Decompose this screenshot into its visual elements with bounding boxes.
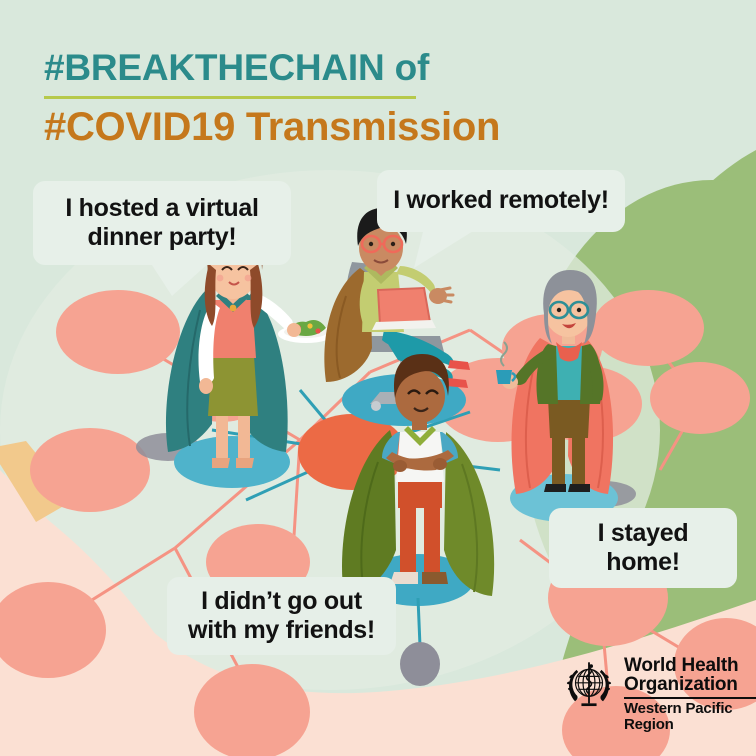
who-logo: World Health Organization Western Pacifi… bbox=[562, 656, 756, 732]
bubble-remote-line1: I worked remotely! bbox=[393, 186, 609, 216]
bubble-dinner-line2: dinner party! bbox=[65, 223, 258, 253]
speech-bubble-remote: I worked remotely! bbox=[377, 170, 625, 232]
bubble-stayed-line2: home! bbox=[598, 548, 689, 578]
who-line-1: World Health bbox=[624, 656, 756, 675]
who-divider bbox=[624, 697, 756, 699]
tail-dinner bbox=[150, 262, 210, 296]
tail-remote bbox=[414, 228, 478, 268]
bubble-stayed-line1: I stayed bbox=[598, 519, 689, 549]
speech-bubble-stayed: I stayed home! bbox=[549, 508, 737, 588]
who-emblem-icon bbox=[562, 658, 616, 712]
bubble-dinner-line1: I hosted a virtual bbox=[65, 194, 258, 224]
emblem-serpent-head bbox=[589, 664, 593, 668]
poster-canvas: #BREAKTHECHAIN of #COVID19 Transmission … bbox=[0, 0, 756, 756]
bubble-friends-line1: I didn’t go out bbox=[188, 587, 375, 617]
who-line-3: Western Pacific Region bbox=[624, 701, 756, 733]
emblem-base bbox=[581, 703, 596, 706]
bubble-friends-line2: with my friends! bbox=[188, 616, 375, 646]
who-wordmark: World Health Organization Western Pacifi… bbox=[624, 656, 756, 732]
speech-bubble-friends: I didn’t go out with my friends! bbox=[167, 577, 396, 655]
speech-bubble-dinner: I hosted a virtual dinner party! bbox=[33, 181, 291, 265]
who-line-2: Organization bbox=[624, 675, 756, 694]
